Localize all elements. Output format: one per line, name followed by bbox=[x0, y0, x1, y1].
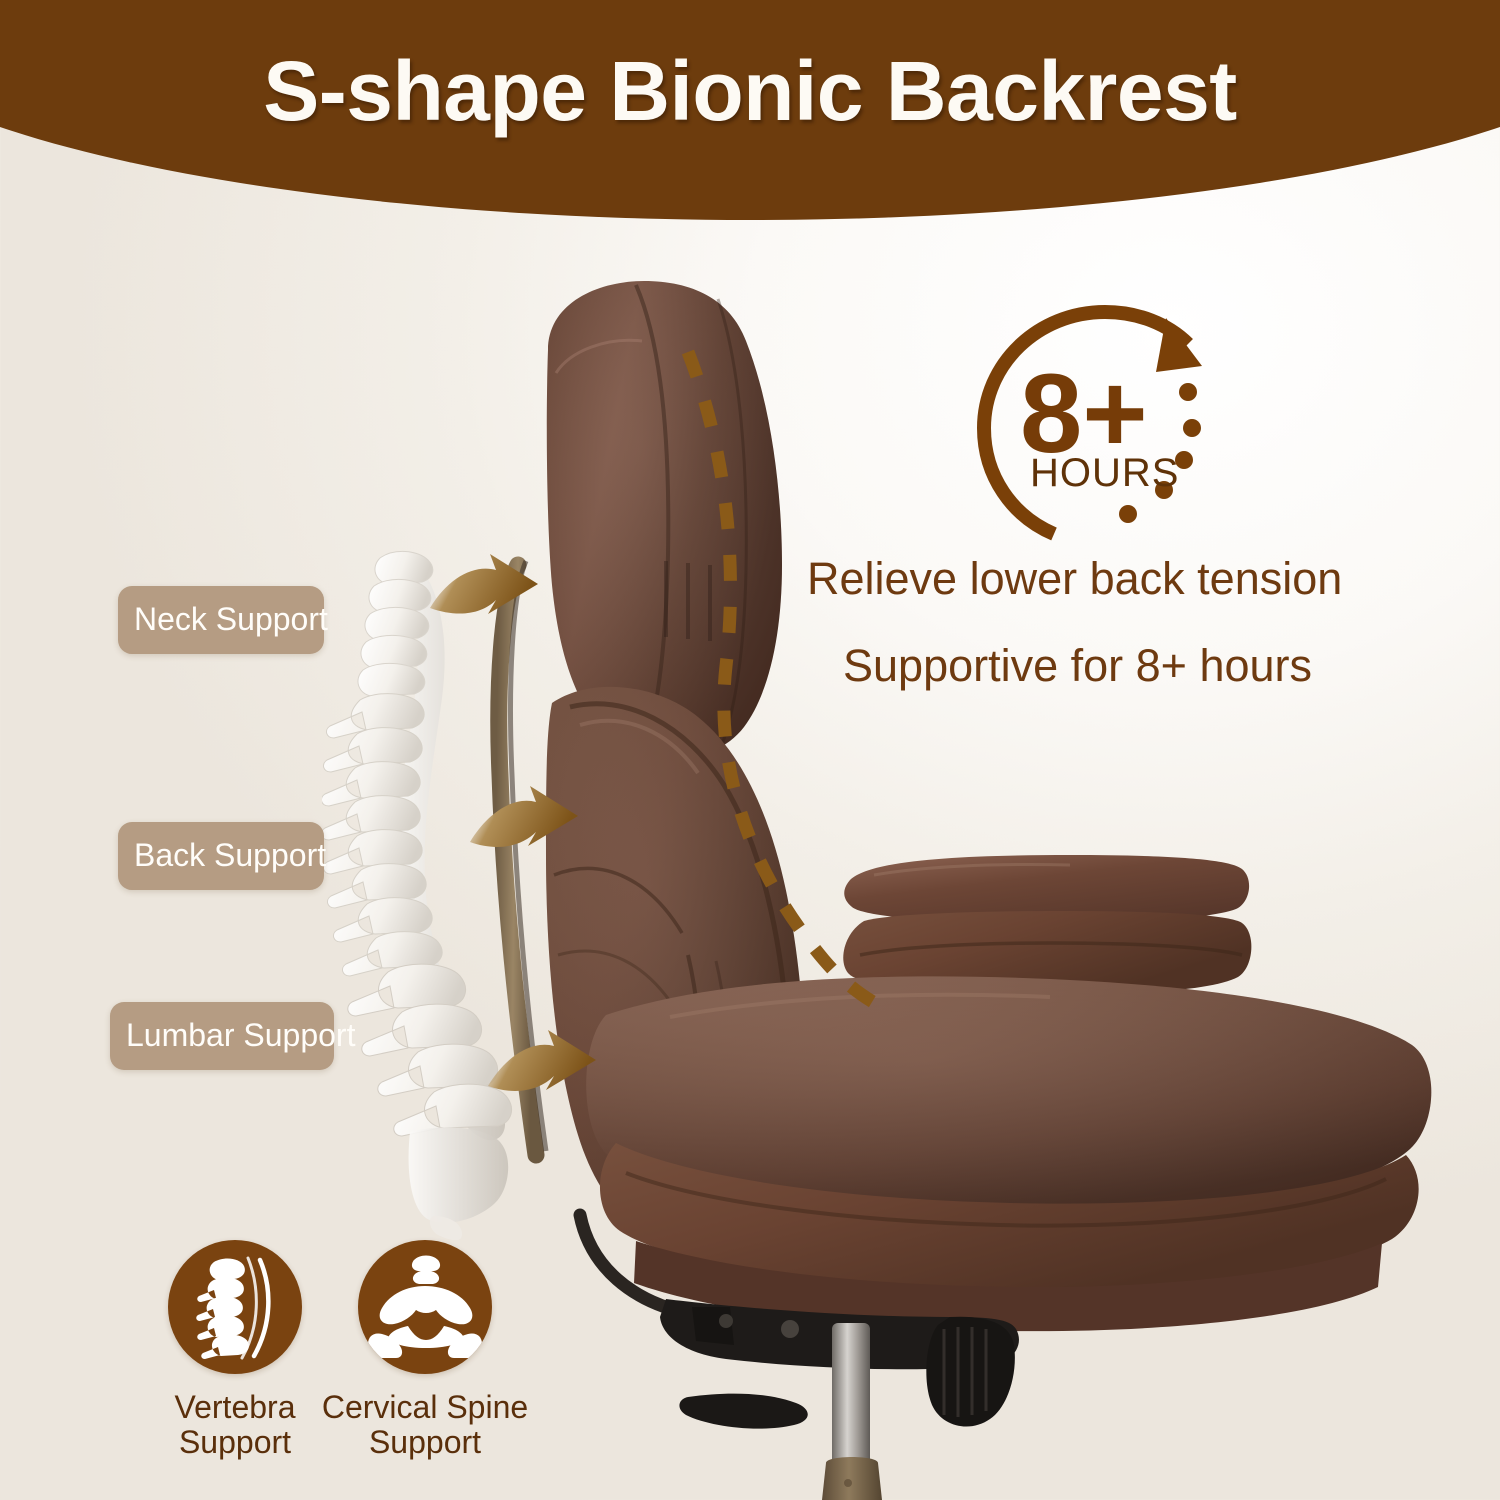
hours-badge: 8+ HOURS bbox=[960, 300, 1250, 550]
infographic-canvas: S-shape Bionic Backrest bbox=[0, 0, 1500, 1500]
feature-label-line1: Cervical Spine bbox=[310, 1390, 540, 1425]
feature-label-line2: Support bbox=[310, 1425, 540, 1460]
spine-vertebra-icon bbox=[168, 1240, 302, 1374]
feature-cervical-spine-support: Cervical Spine Support bbox=[310, 1240, 540, 1459]
label-back-support: Back Support bbox=[118, 822, 324, 890]
curved-arrow-icon bbox=[470, 770, 600, 862]
s-curve-spine-illustration bbox=[322, 540, 562, 1240]
label-lumbar-support: Lumbar Support bbox=[110, 1002, 334, 1070]
curved-arrow-icon bbox=[430, 540, 560, 632]
header-banner: S-shape Bionic Backrest bbox=[0, 0, 1500, 220]
cervical-spine-icon bbox=[358, 1240, 492, 1374]
badge-unit: HOURS bbox=[1030, 451, 1179, 495]
page-title: S-shape Bionic Backrest bbox=[0, 43, 1500, 140]
curved-arrow-icon bbox=[488, 1012, 618, 1104]
benefit-line-2: Supportive for 8+ hours bbox=[843, 643, 1312, 688]
feature-label: Cervical Spine Support bbox=[310, 1390, 540, 1459]
label-neck-support: Neck Support bbox=[118, 586, 324, 654]
benefit-line-1: Relieve lower back tension bbox=[807, 556, 1342, 601]
